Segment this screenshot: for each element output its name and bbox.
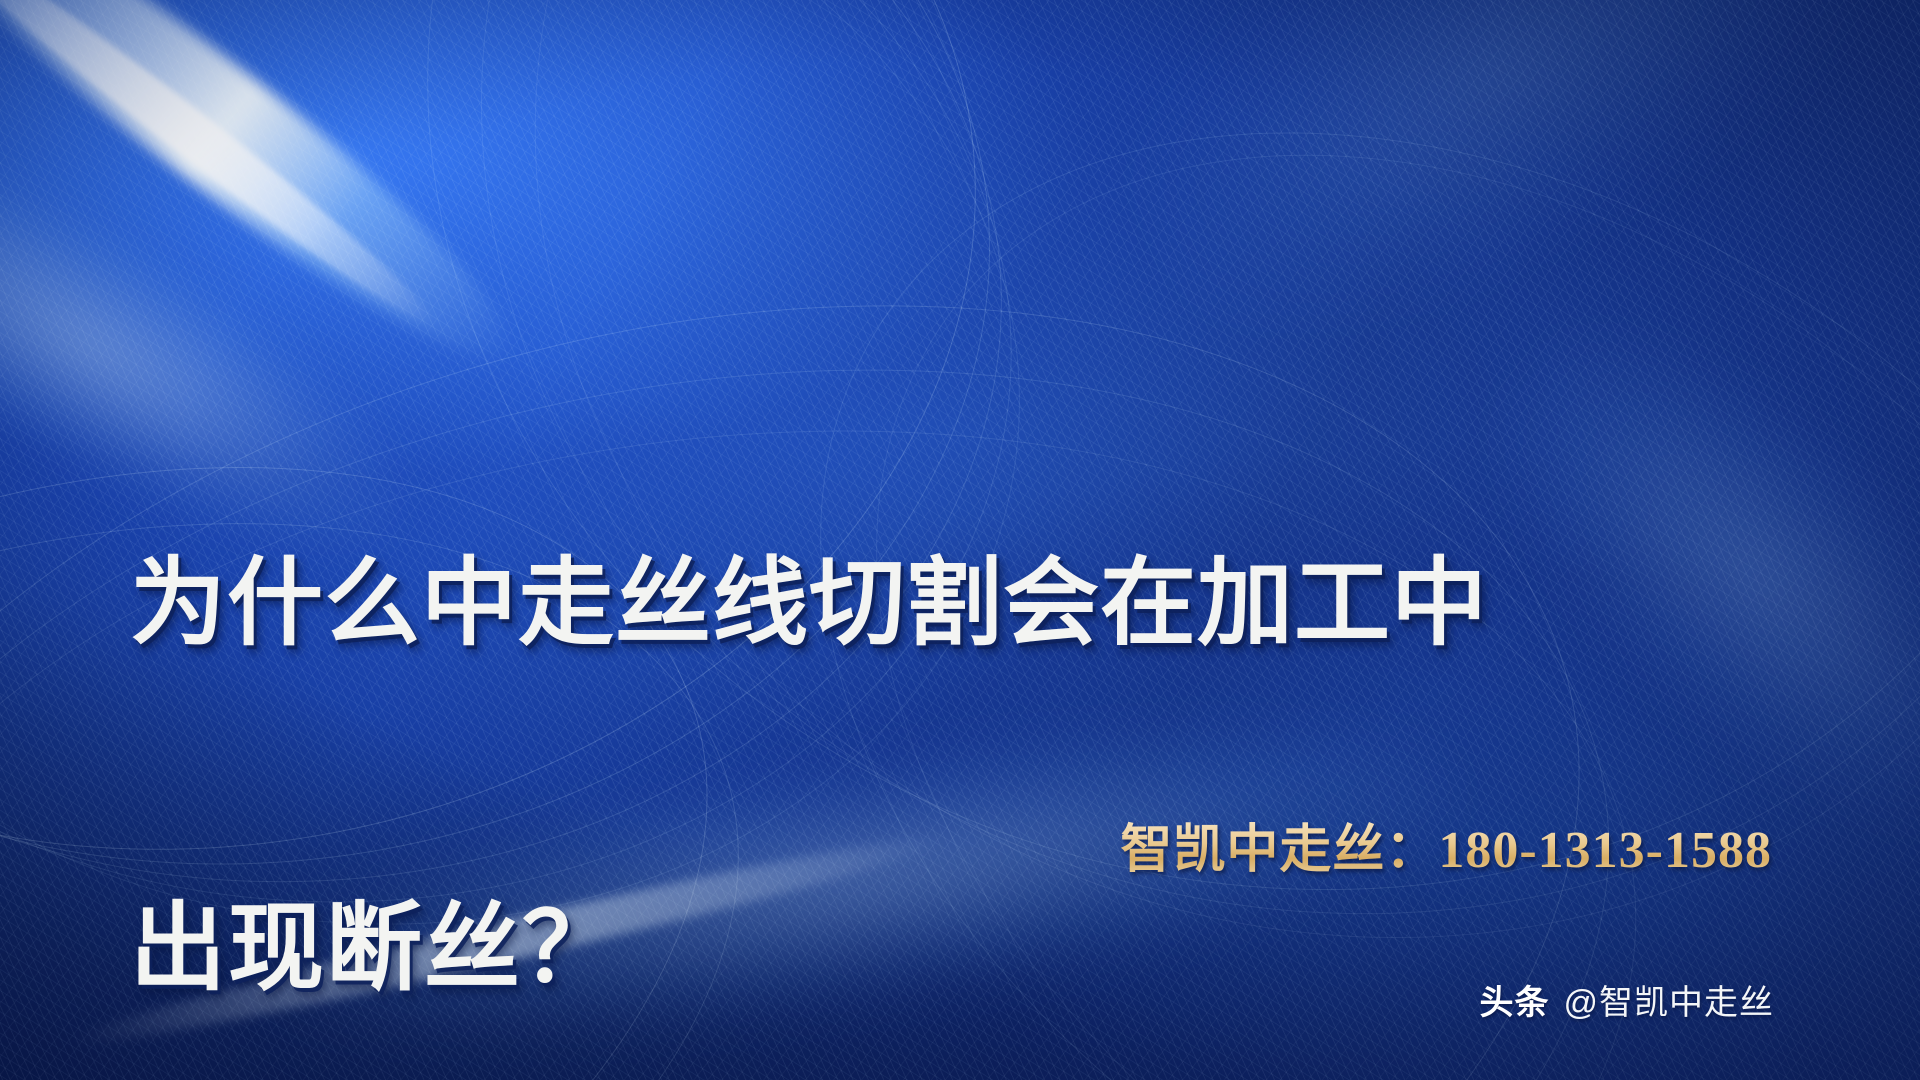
- page-title: 为什么中走丝线切割会在加工中 出现断丝？: [130, 316, 1890, 1080]
- watermark-platform: 头条: [1479, 975, 1549, 1024]
- page-title-line-1: 为什么中走丝线切割会在加工中: [130, 546, 1890, 661]
- watermark-handle: @智凯中走丝: [1563, 975, 1774, 1024]
- watermark: 头条 @智凯中走丝: [1479, 975, 1774, 1024]
- contact-line: 智凯中走丝：180-1313-1588: [1120, 820, 1772, 882]
- poster-canvas: 为什么中走丝线切割会在加工中 出现断丝？ 智凯中走丝：180-1313-1588…: [0, 0, 1920, 1080]
